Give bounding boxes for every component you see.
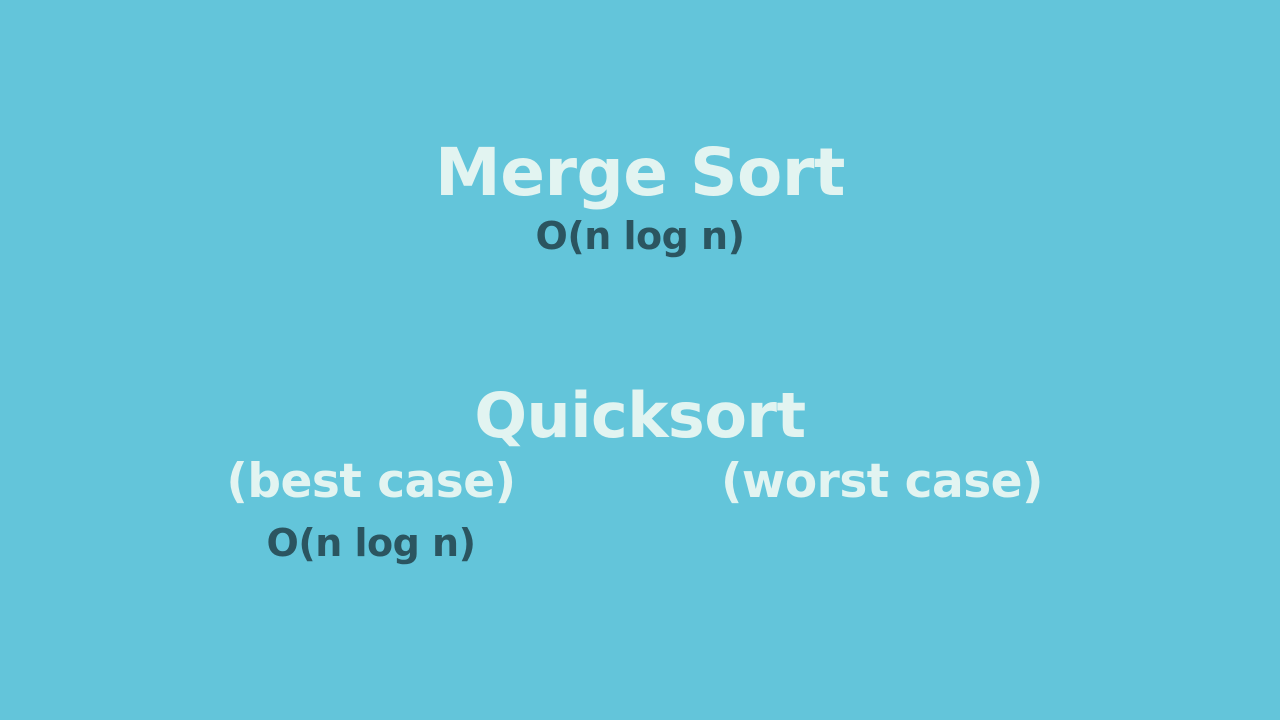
merge-sort-complexity: O(n log n) <box>0 217 1280 255</box>
quicksort-title: Quicksort <box>0 385 1280 447</box>
quicksort-best-case-complexity: O(n log n) <box>171 524 571 562</box>
merge-sort-block: Merge Sort O(n log n) <box>0 140 1280 255</box>
quicksort-case-row: (best case) O(n log n) (worst case) <box>0 458 1280 638</box>
merge-sort-title: Merge Sort <box>0 140 1280 206</box>
quicksort-worst-case-column: (worst case) <box>682 458 1082 524</box>
quicksort-best-case-label: (best case) <box>171 458 571 505</box>
slide-canvas: Merge Sort O(n log n) Quicksort (best ca… <box>0 0 1280 720</box>
quicksort-block: Quicksort (best case) O(n log n) (worst … <box>0 385 1280 638</box>
quicksort-best-case-column: (best case) O(n log n) <box>171 458 571 562</box>
quicksort-worst-case-label: (worst case) <box>682 458 1082 505</box>
